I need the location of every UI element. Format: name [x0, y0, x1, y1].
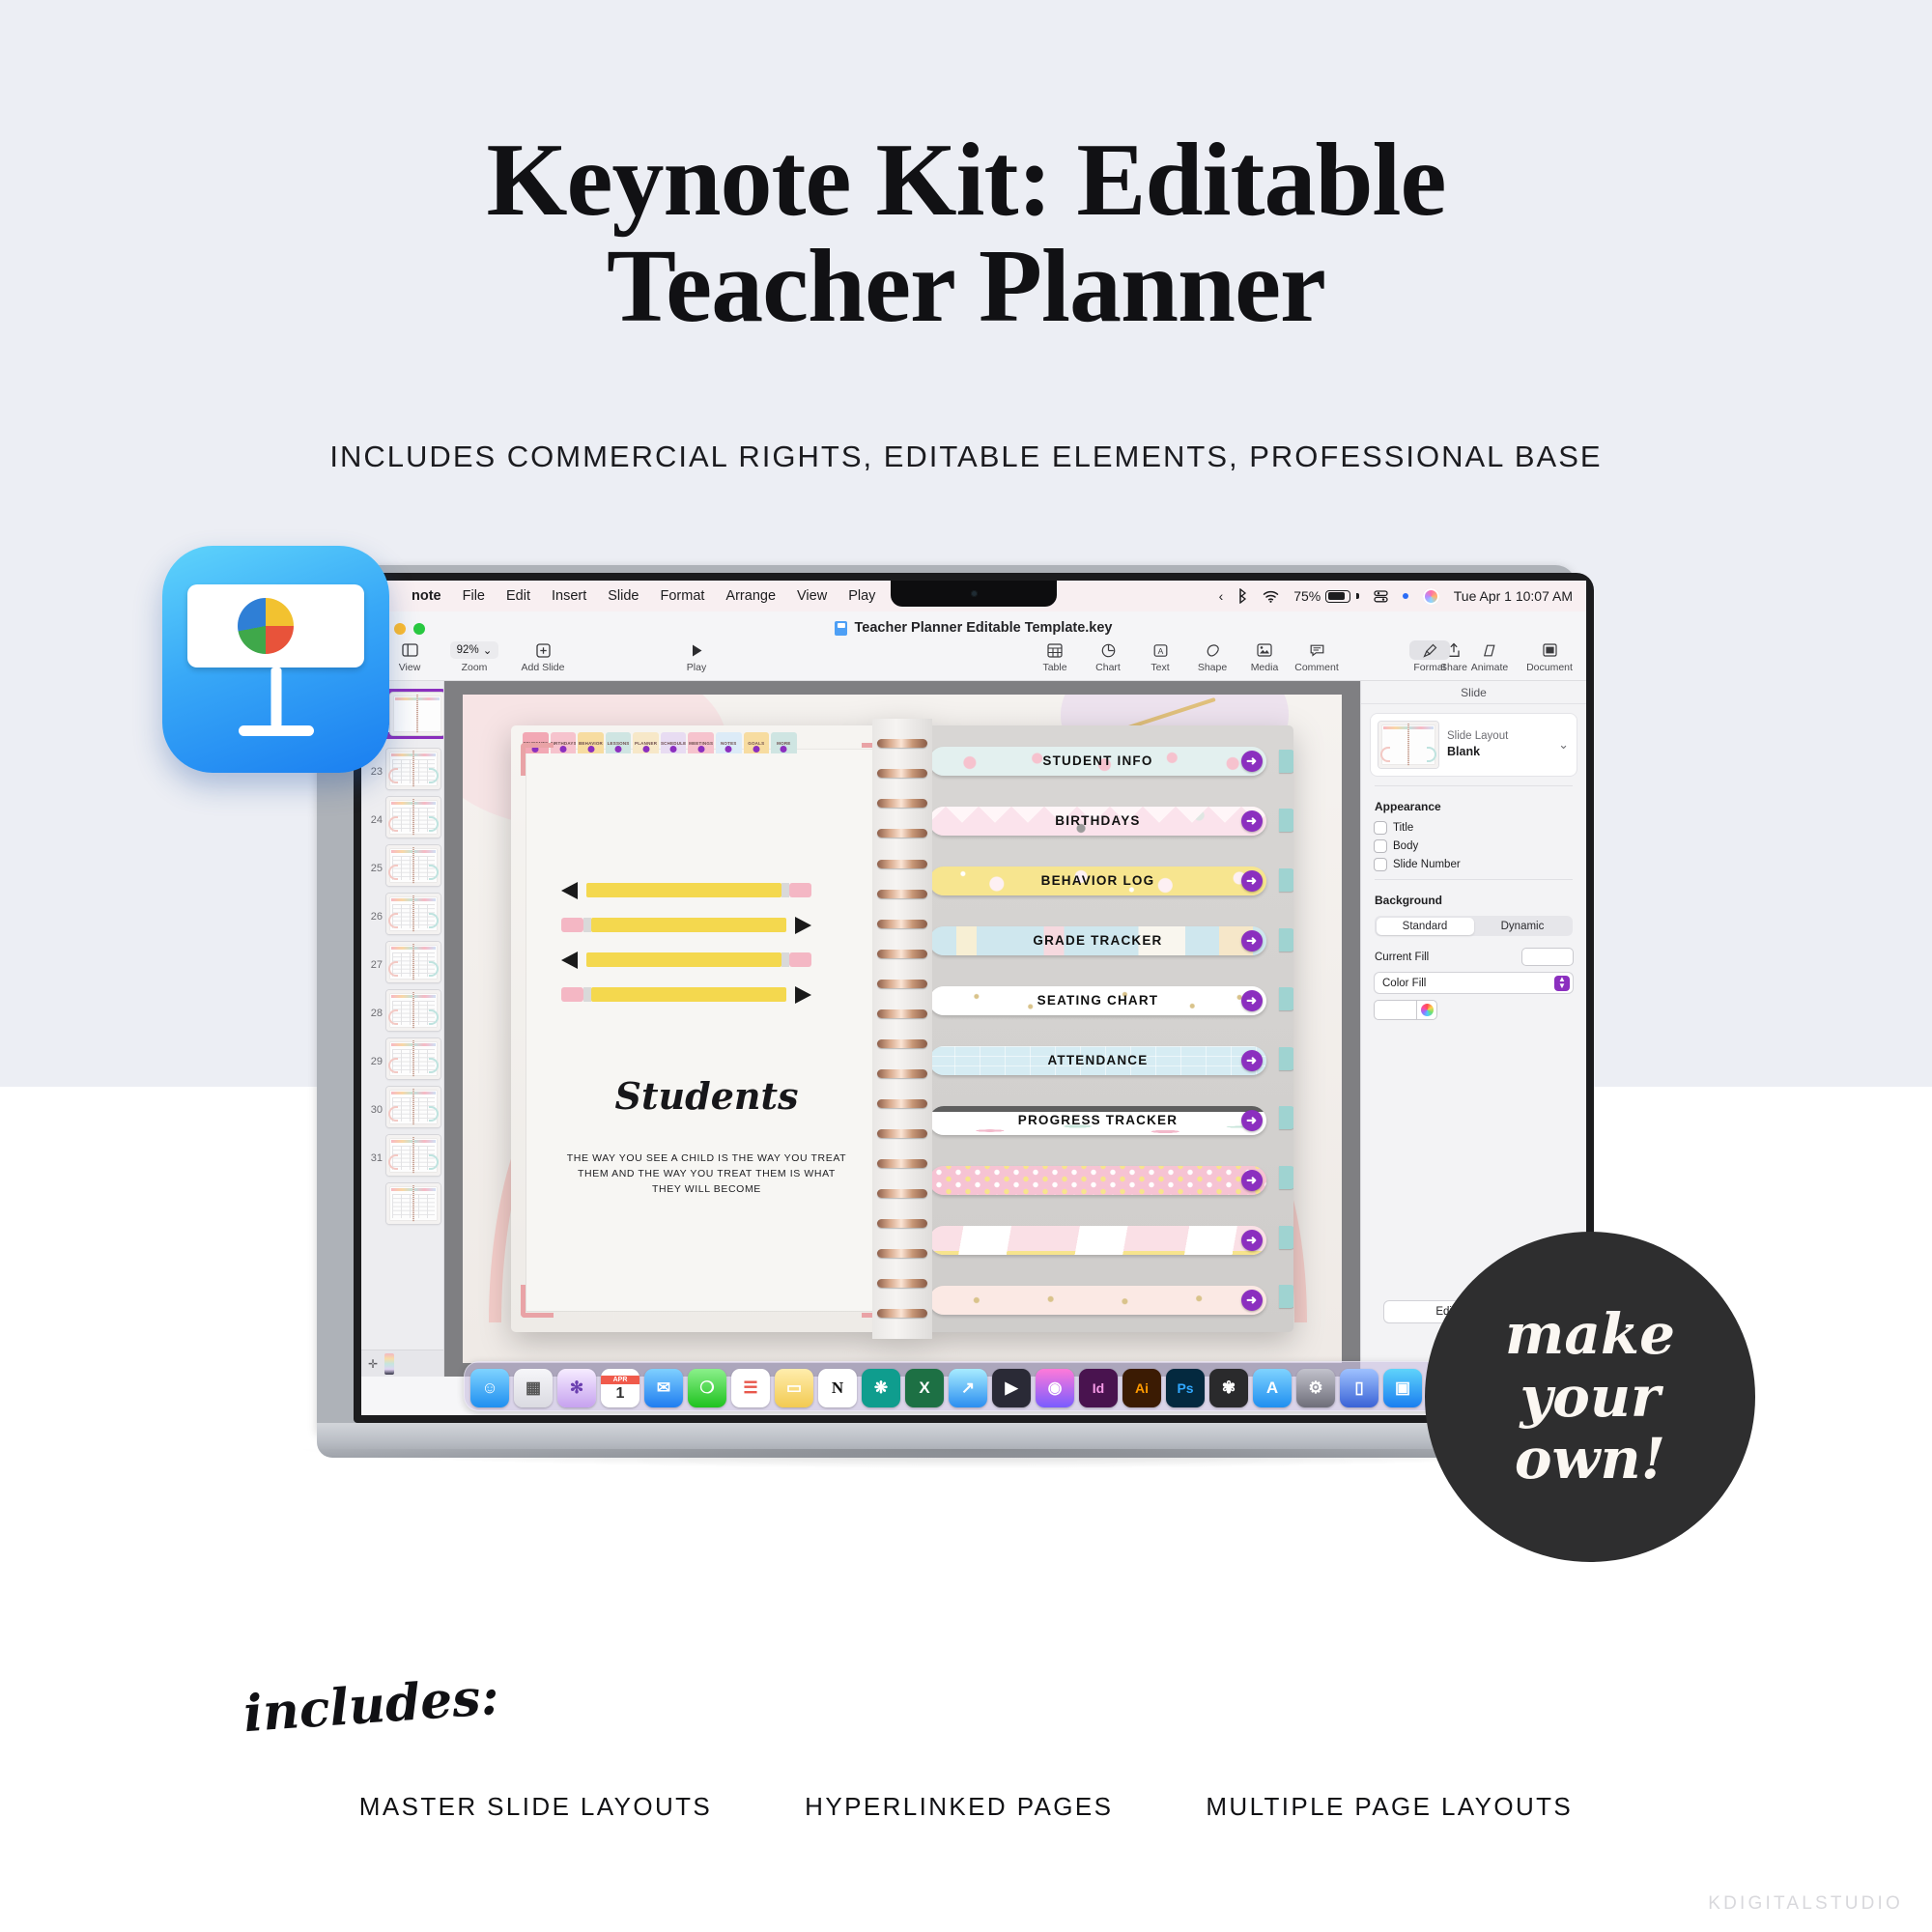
checkbox-title[interactable]: [1375, 822, 1386, 834]
keynote-icon-screen: [187, 584, 364, 668]
arrow-right-icon[interactable]: ➜: [1241, 870, 1263, 892]
index-tab-dot: [725, 746, 732, 753]
link-tab-blank-2[interactable]: ➜: [929, 1226, 1265, 1255]
link-tab-attendance[interactable]: ATTENDANCE ➜: [929, 1046, 1265, 1075]
index-tab[interactable]: LESSONS: [606, 732, 632, 753]
zoom-label: Zoom: [462, 662, 488, 673]
slide-layout-selector[interactable]: Slide Layout Blank ⌄: [1371, 714, 1577, 776]
link-tab-student-info[interactable]: STUDENT INFO ➜: [929, 747, 1265, 776]
checkbox-title-label: Title: [1393, 822, 1413, 834]
menu-item-format[interactable]: Format: [661, 588, 705, 604]
camera-icon: [971, 590, 978, 597]
media-label: Media: [1251, 662, 1279, 673]
tab-format[interactable]: Format: [1401, 640, 1459, 673]
dock-icon-notion[interactable]: N: [818, 1369, 857, 1407]
edge-tab[interactable]: [1279, 750, 1293, 773]
menu-item-file[interactable]: File: [463, 588, 485, 604]
view-label: View: [399, 662, 421, 673]
arrow-right-icon[interactable]: ➜: [1241, 1230, 1263, 1251]
pencil-illustration: [561, 918, 811, 932]
add-slide-button[interactable]: Add Slide: [516, 640, 570, 673]
tab-pattern: [929, 1226, 1265, 1255]
current-slide[interactable]: STUDENTS BIRTHDAYS BEHAVIOR LESSONS PLAN…: [463, 695, 1342, 1362]
theme-color-strip[interactable]: [384, 1353, 394, 1375]
laptop-mockup: note File Edit Insert Slide Format Arran…: [290, 565, 1604, 1454]
menu-item-insert[interactable]: Insert: [552, 588, 586, 604]
menu-item-play[interactable]: Play: [848, 588, 875, 604]
slide-thumbnail[interactable]: [386, 942, 440, 982]
index-tab-dot: [642, 746, 649, 753]
plus-square-icon: [536, 640, 551, 660]
text-label: Text: [1151, 662, 1169, 673]
arrow-right-icon[interactable]: ➜: [1241, 1290, 1263, 1311]
badge-line-3: own!: [1515, 1428, 1665, 1491]
fill-color-swatch[interactable]: [1375, 1001, 1417, 1019]
index-tab[interactable]: GOALS: [744, 732, 770, 753]
checkbox-body-label: Body: [1393, 840, 1418, 852]
shape-icon: [1206, 640, 1220, 660]
text-box-icon: A: [1153, 640, 1168, 660]
macos-menu-bar: note File Edit Insert Slide Format Arran…: [361, 581, 1586, 611]
page-corner-decor: [521, 743, 554, 776]
feature-item-hyperlinked-pages: HYPERLINKED PAGES: [805, 1792, 1113, 1822]
slide-number: 27: [361, 959, 383, 971]
dock-icon-mail[interactable]: ✉: [644, 1369, 683, 1407]
battery-icon: [1325, 590, 1350, 603]
tab-format-label: Format: [1413, 662, 1445, 673]
dock-icon-safari[interactable]: ✻: [557, 1369, 596, 1407]
link-tab-label: SEATING CHART: [1037, 993, 1159, 1008]
arrow-right-icon[interactable]: ➜: [1241, 810, 1263, 832]
fill-type-value: Color Fill: [1382, 978, 1426, 989]
checkbox-row-title[interactable]: Title: [1361, 818, 1586, 837]
background-type-segmented-control[interactable]: Standard Dynamic: [1375, 916, 1573, 936]
index-tab[interactable]: SCHEDULE: [661, 732, 687, 753]
edge-tab[interactable]: [1279, 1285, 1293, 1308]
arrow-right-icon[interactable]: ➜: [1241, 1050, 1263, 1071]
index-tab-dot: [697, 746, 704, 753]
tab-pattern: [929, 1286, 1265, 1315]
slide-thumbnail[interactable]: [386, 845, 440, 886]
dock-icon-numbers[interactable]: ↗: [949, 1369, 987, 1407]
spiral-binding: [872, 719, 932, 1339]
document-icon: [1543, 640, 1557, 660]
appearance-heading: Appearance: [1361, 792, 1586, 818]
arrow-right-icon[interactable]: ➜: [1241, 1110, 1263, 1131]
color-wheel-icon: [1421, 1004, 1434, 1016]
title-line-2: Teacher Planner: [0, 234, 1932, 340]
brand-watermark: KDIGITALSTUDIO: [1708, 1893, 1903, 1915]
dock-icon-excel[interactable]: X: [905, 1369, 944, 1407]
index-tab-dot: [670, 746, 677, 753]
media-button[interactable]: Media: [1237, 640, 1292, 673]
inspector-panel-title: Slide: [1361, 681, 1586, 704]
comment-icon: [1310, 640, 1324, 660]
laptop-lid: note File Edit Insert Slide Format Arran…: [317, 565, 1577, 1435]
pencil-illustration-group: [542, 883, 863, 1053]
slide-thumbnail[interactable]: [386, 1087, 440, 1127]
dock-icon-photos[interactable]: ✾: [1209, 1369, 1248, 1407]
segment-dynamic[interactable]: Dynamic: [1474, 918, 1572, 935]
zoom-dropdown[interactable]: 92% ⌄: [450, 641, 499, 659]
edge-tab[interactable]: [1279, 1106, 1293, 1129]
slide-layout-thumbnail: [1378, 722, 1438, 768]
battery-percent-label: 75%: [1293, 588, 1321, 604]
chart-icon: [1101, 640, 1116, 660]
keynote-icon-base: [239, 725, 314, 736]
tab-animate[interactable]: Animate: [1461, 640, 1519, 673]
keynote-app-icon: [162, 546, 389, 773]
slide-thumbnail[interactable]: [386, 749, 440, 789]
planner-spread[interactable]: STUDENTS BIRTHDAYS BEHAVIOR LESSONS PLAN…: [511, 725, 1293, 1333]
slide-thumbnail[interactable]: [386, 1135, 440, 1176]
hyperlink-tab-list: STUDENT INFO ➜ BIRTHDAYS ➜: [929, 747, 1265, 1315]
play-button[interactable]: Play: [669, 640, 724, 673]
tab-document[interactable]: Document: [1520, 640, 1578, 673]
background-heading: Background: [1361, 886, 1586, 912]
arrow-right-icon[interactable]: ➜: [1241, 990, 1263, 1011]
edge-tab[interactable]: [1279, 1047, 1293, 1070]
dock-icon-app-store[interactable]: A: [1253, 1369, 1292, 1407]
chart-button[interactable]: Chart: [1081, 640, 1135, 673]
index-tab[interactable]: MEETINGS: [688, 732, 714, 753]
link-tab-birthdays[interactable]: BIRTHDAYS ➜: [929, 807, 1265, 836]
badge-line-1: make: [1505, 1303, 1675, 1366]
shape-label: Shape: [1198, 662, 1227, 673]
link-tab-label: ATTENDANCE: [1047, 1053, 1148, 1067]
menu-item-arrange[interactable]: Arrange: [725, 588, 776, 604]
feature-item-master-slide-layouts: MASTER SLIDE LAYOUTS: [359, 1792, 712, 1822]
menu-bar-status-items: ‹ 75%: [1219, 581, 1573, 611]
slide-number: 28: [361, 1008, 383, 1019]
pie-chart-icon: [238, 598, 294, 654]
checkbox-row-body[interactable]: Body: [1361, 837, 1586, 855]
shape-button[interactable]: Shape: [1185, 640, 1239, 673]
link-tab-seating-chart[interactable]: SEATING CHART ➜: [929, 986, 1265, 1015]
link-tab-behavior-log[interactable]: BEHAVIOR LOG ➜: [929, 867, 1265, 895]
pencil-illustration: [561, 883, 811, 897]
slide-layout-label: Slide Layout: [1447, 729, 1549, 745]
make-your-own-badge: make your own!: [1425, 1232, 1755, 1562]
slide-thumbnail[interactable]: [386, 1183, 440, 1224]
control-center-icon[interactable]: [1374, 589, 1388, 604]
keynote-icon-stand: [270, 668, 281, 727]
chevron-down-icon: ⌄: [483, 643, 493, 657]
dock-icon-indesign[interactable]: Id: [1079, 1369, 1118, 1407]
play-label: Play: [687, 662, 706, 673]
edge-tab[interactable]: [1279, 868, 1293, 892]
page-title: Keynote Kit: Editable Teacher Planner: [0, 128, 1932, 340]
current-fill-label: Current Fill: [1375, 952, 1429, 963]
menu-item-edit[interactable]: Edit: [506, 588, 530, 604]
battery-status[interactable]: 75%: [1293, 588, 1359, 604]
view-button[interactable]: View: [383, 640, 437, 673]
slide-number: 25: [361, 863, 383, 874]
divider: [1375, 785, 1573, 786]
edge-tab[interactable]: [1279, 987, 1293, 1010]
planner-right-page[interactable]: STUDENT INFO ➜ BIRTHDAYS ➜: [902, 725, 1293, 1333]
current-fill-row: Current Fill: [1361, 946, 1586, 973]
dock-icon-launchpad[interactable]: ▦: [514, 1369, 553, 1407]
zoom-control[interactable]: 92% ⌄ Zoom: [442, 640, 506, 673]
link-tab-progress-tracker[interactable]: PROGRESS TRACKER ➜: [929, 1106, 1265, 1135]
comment-label: Comment: [1294, 662, 1339, 673]
fill-type-dropdown[interactable]: Color Fill ▲▼: [1375, 973, 1573, 993]
badge-line-2: your: [1520, 1366, 1660, 1429]
tab-animate-label: Animate: [1471, 662, 1509, 673]
edge-tab[interactable]: [1279, 1226, 1293, 1249]
checkbox-row-slide-number[interactable]: Slide Number: [1361, 855, 1586, 873]
dock-icon-notes[interactable]: ▭: [775, 1369, 813, 1407]
dock-icon-illustrator[interactable]: Ai: [1122, 1369, 1161, 1407]
index-tab-strip[interactable]: STUDENTS BIRTHDAYS BEHAVIOR LESSONS PLAN…: [523, 732, 796, 753]
slide-number: 29: [361, 1056, 383, 1067]
tab-document-label: Document: [1526, 662, 1573, 673]
chevron-down-icon[interactable]: ⌄: [1558, 737, 1569, 753]
current-fill-swatch[interactable]: [1522, 949, 1573, 965]
edge-tab[interactable]: [1279, 809, 1293, 832]
play-icon: [691, 640, 703, 660]
index-tab-dot: [753, 746, 759, 753]
stepper-icon[interactable]: ▲▼: [1554, 976, 1570, 991]
divider: [1375, 879, 1573, 880]
zoom-value: 92%: [457, 644, 479, 656]
link-tab-blank-3[interactable]: ➜: [929, 1286, 1265, 1315]
svg-text:A: A: [1157, 646, 1163, 656]
slide-thumbnail[interactable]: [386, 894, 440, 934]
tab-pattern: [929, 1166, 1265, 1195]
dock-icon-finder[interactable]: ☺: [470, 1369, 509, 1407]
pencil-illustration: [561, 952, 811, 967]
left-page-quote[interactable]: THE WAY YOU SEE A CHILD IS THE WAY YOU T…: [566, 1151, 848, 1198]
checkbox-slide-number[interactable]: [1375, 859, 1386, 870]
dock-icon-reminders[interactable]: ☰: [731, 1369, 770, 1407]
menu-item-keynote[interactable]: note: [412, 588, 441, 604]
siri-icon[interactable]: [1423, 588, 1439, 605]
index-tab-dot: [559, 746, 566, 753]
index-tab-dot: [587, 746, 594, 753]
slide-thumbnail[interactable]: [386, 990, 440, 1031]
dock-icon-screen-mirroring[interactable]: ▯: [1340, 1369, 1378, 1407]
index-tab[interactable]: PLANNER: [633, 732, 659, 753]
slide-number: 31: [361, 1152, 383, 1164]
pencil-illustration: [561, 987, 811, 1002]
link-tab-blank-1[interactable]: ➜: [929, 1166, 1265, 1195]
link-tab-label: STUDENT INFO: [1042, 753, 1152, 768]
edge-tab[interactable]: [1279, 1166, 1293, 1189]
keynote-toolbar: Teacher Planner Editable Template.key Vi…: [361, 611, 1586, 681]
link-tab-label: BEHAVIOR LOG: [1041, 873, 1155, 888]
document-title: Teacher Planner Editable Template.key: [854, 620, 1112, 636]
keynote-document-icon: [835, 621, 847, 636]
link-tab-label: PROGRESS TRACKER: [1018, 1113, 1178, 1127]
macos-dock[interactable]: ☺ ▦ ✻ APR 1 ✉ ❍ ☰ ▭ N ❋ X ↗ ▶ ◉: [464, 1361, 1484, 1411]
slide-number: 26: [361, 911, 383, 923]
view-panels-icon: [402, 640, 418, 660]
slide-layout-value: Blank: [1447, 744, 1549, 760]
dock-icon-keynote[interactable]: ▣: [1383, 1369, 1422, 1407]
feature-item-multiple-page-layouts: MULTIPLE PAGE LAYOUTS: [1206, 1792, 1573, 1822]
fill-color-row[interactable]: [1375, 1001, 1573, 1019]
thumbnail-image: [390, 693, 444, 735]
add-slide-label: Add Slide: [522, 662, 565, 673]
dock-icon-system-settings[interactable]: ⚙: [1296, 1369, 1335, 1407]
dock-icon-photoshop-elements[interactable]: ◉: [1036, 1369, 1074, 1407]
table-label: Table: [1042, 662, 1066, 673]
side-edge-tab-strip[interactable]: [1279, 750, 1293, 1309]
menu-item-view[interactable]: View: [797, 588, 827, 604]
comment-button[interactable]: Comment: [1290, 640, 1344, 673]
index-tab-dot: [615, 746, 622, 753]
screen-bezel: note File Edit Insert Slide Format Arran…: [354, 573, 1594, 1423]
link-tab-grade-tracker[interactable]: GRADE TRACKER ➜: [929, 926, 1265, 955]
document-title-bar: Teacher Planner Editable Template.key: [361, 620, 1586, 636]
dock-icon-final-cut-pro[interactable]: ▶: [992, 1369, 1031, 1407]
feature-list: MASTER SLIDE LAYOUTS HYPERLINKED PAGES M…: [0, 1792, 1932, 1822]
slide-navigator[interactable]: ❯ 15 23 24 25: [361, 681, 444, 1377]
menu-bar-clock[interactable]: Tue Apr 1 10:07 AM: [1454, 588, 1573, 604]
focus-status-dot: [1403, 593, 1408, 599]
menu-item-slide[interactable]: Slide: [608, 588, 639, 604]
dock-icon-messages[interactable]: ❍: [688, 1369, 726, 1407]
index-tab[interactable]: BEHAVIOR: [578, 732, 604, 753]
color-wheel-button[interactable]: [1417, 1001, 1436, 1019]
slide-thumbnail[interactable]: [386, 797, 440, 838]
slide-thumbnail[interactable]: [386, 1038, 440, 1079]
bluetooth-icon[interactable]: [1237, 588, 1248, 604]
slide-number: 23: [361, 766, 383, 778]
planner-left-page[interactable]: STUDENTS BIRTHDAYS BEHAVIOR LESSONS PLAN…: [511, 725, 902, 1333]
wifi-icon[interactable]: [1263, 590, 1279, 603]
dock-icon-calendar[interactable]: APR 1: [601, 1369, 639, 1407]
chart-label: Chart: [1095, 662, 1121, 673]
screen: note File Edit Insert Slide Format Arran…: [361, 581, 1586, 1415]
navigator-footer: ✛: [361, 1350, 444, 1377]
link-tab-label: BIRTHDAYS: [1055, 813, 1140, 828]
arrow-right-icon[interactable]: ➜: [1241, 930, 1263, 952]
dock-icon-chatgpt[interactable]: ❋: [862, 1369, 900, 1407]
left-page-title[interactable]: Students: [511, 1074, 902, 1118]
title-line-1: Keynote Kit: Editable: [487, 123, 1446, 238]
checkbox-body[interactable]: [1375, 840, 1386, 852]
table-icon: [1047, 640, 1063, 660]
link-tab-label: GRADE TRACKER: [1033, 933, 1162, 948]
segment-standard[interactable]: Standard: [1377, 918, 1474, 935]
slide-canvas[interactable]: STUDENTS BIRTHDAYS BEHAVIOR LESSONS PLAN…: [444, 681, 1360, 1377]
move-tool-icon[interactable]: ✛: [368, 1357, 378, 1371]
page-corner-decor: [521, 1285, 554, 1318]
animate-diamond-icon: [1482, 640, 1497, 660]
arrow-right-icon[interactable]: ➜: [1241, 1170, 1263, 1191]
index-tab-dot: [781, 746, 787, 753]
index-tab[interactable]: BIRTHDAYS: [551, 732, 577, 753]
inspector-tab-bar: Format Animate Document: [1401, 640, 1578, 673]
text-button[interactable]: A Text: [1133, 640, 1187, 673]
table-button[interactable]: Table: [1028, 640, 1082, 673]
index-tab[interactable]: MORE: [771, 732, 797, 753]
page-subtitle: INCLUDES COMMERCIAL RIGHTS, EDITABLE ELE…: [0, 440, 1932, 474]
arrow-right-icon[interactable]: ➜: [1241, 751, 1263, 772]
slide-number: 24: [361, 814, 383, 826]
index-tab[interactable]: NOTES: [716, 732, 742, 753]
dock-icon-photoshop[interactable]: Ps: [1166, 1369, 1205, 1407]
edge-tab[interactable]: [1279, 928, 1293, 952]
chevron-left-icon[interactable]: ‹: [1219, 588, 1224, 604]
format-brush-icon: [1409, 640, 1450, 660]
checkbox-slide-number-label: Slide Number: [1393, 859, 1461, 870]
media-image-icon: [1257, 640, 1272, 660]
display-notch: [891, 581, 1057, 607]
slide-number: 30: [361, 1104, 383, 1116]
